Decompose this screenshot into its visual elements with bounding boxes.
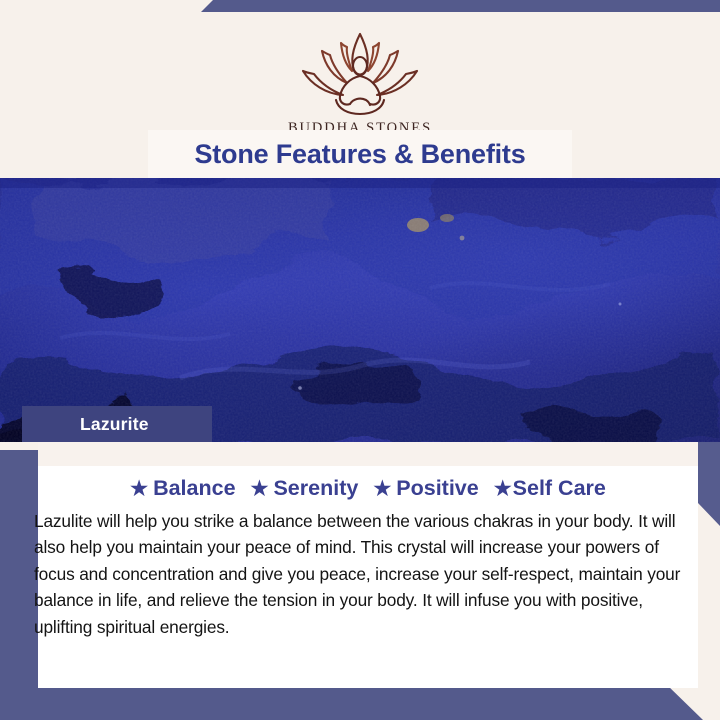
benefit-label: Self Care [513,476,606,501]
stone-photo-image [0,178,720,442]
content-card: ★ Balance ★ Serenity ★ Positive ★ Self C… [38,442,698,688]
stone-name-label: Lazurite [80,414,149,435]
stone-description: Lazulite will help you strike a balance … [26,508,702,640]
page-title-banner: Stone Features & Benefits [148,130,572,178]
stone-name-tag: Lazurite [22,406,212,442]
lotus-meditation-icon [284,26,436,118]
benefit-label: Serenity [273,476,358,501]
star-icon: ★ [373,479,391,499]
brand-logo: BUDDHA STONES [265,26,455,137]
benefit-item-positive: ★ Positive [373,476,478,501]
benefit-item-serenity: ★ Serenity [251,476,359,501]
benefit-label: Positive [396,476,478,501]
frame-bottom-accent-band [0,683,720,720]
benefit-item-balance: ★ Balance [130,476,235,501]
benefits-row: ★ Balance ★ Serenity ★ Positive ★ Self C… [38,476,698,501]
star-icon: ★ [251,479,269,499]
page-title: Stone Features & Benefits [194,139,525,170]
star-icon: ★ [130,479,148,499]
star-icon: ★ [494,479,512,499]
stone-photo [0,178,720,442]
infographic-page: BUDDHA STONES [0,0,720,720]
content-card-top-strip [38,442,698,466]
benefit-item-self-care: ★ Self Care [494,476,606,501]
benefit-label: Balance [153,476,235,501]
